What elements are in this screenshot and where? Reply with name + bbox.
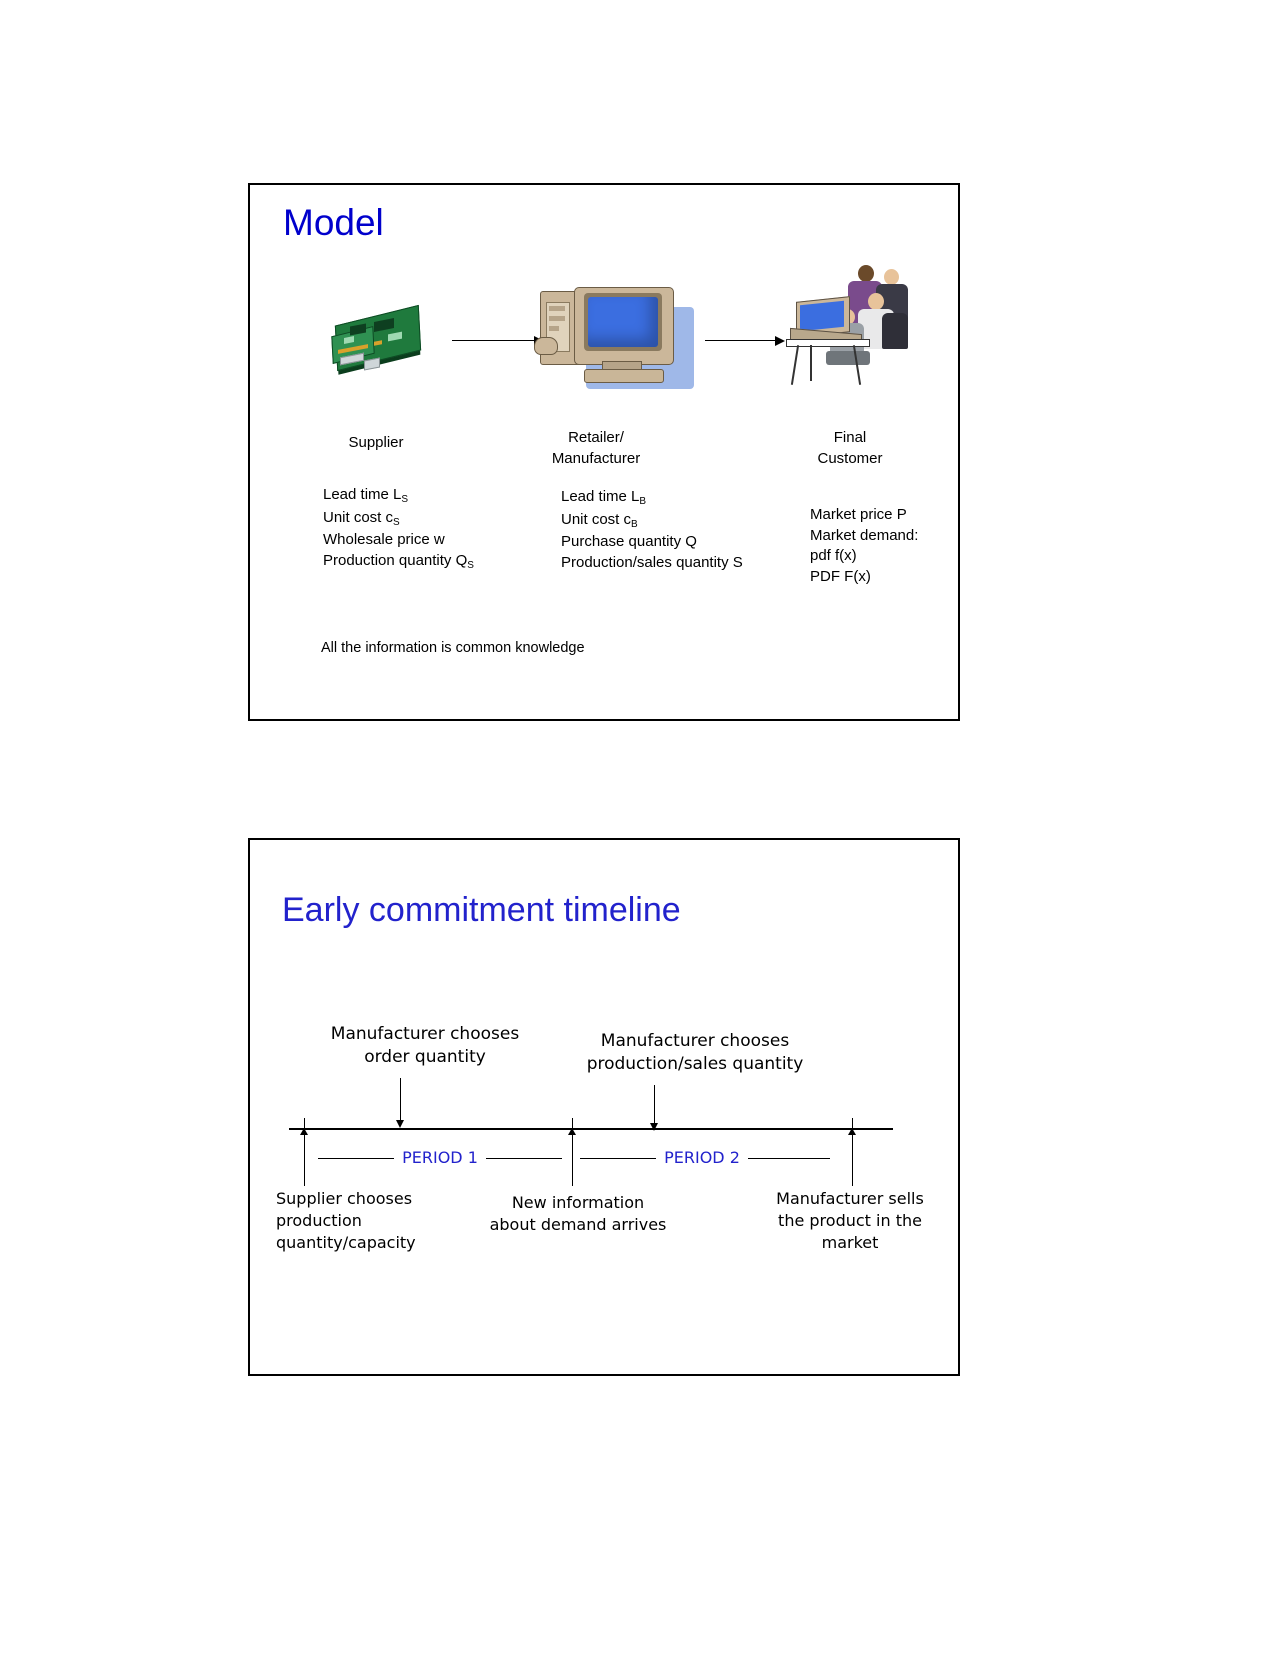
arrow-supplier-to-manufacturer: [452, 340, 536, 341]
subscript: S: [393, 517, 400, 528]
circuit-board-icon: [330, 301, 426, 379]
list-item: pdf f(x): [810, 546, 918, 567]
period-2-rule-left: [580, 1158, 656, 1159]
period-1-rule-right: [486, 1158, 562, 1159]
bottom-label-new-information: New information about demand arrives: [468, 1192, 688, 1236]
final-customer-icon: [790, 263, 930, 393]
list-item: Lead time LS: [323, 485, 474, 508]
column-body-manufacturer: Lead time LB Unit cost cB Purchase quant…: [561, 487, 743, 573]
heading-line2: Customer: [770, 448, 930, 469]
arrow-manufacturer-to-customer: [705, 340, 777, 341]
list-item: Lead time LB: [561, 487, 743, 510]
bottom-label-manufacturer-sells: Manufacturer sells the product in the ma…: [750, 1188, 950, 1254]
column-body-supplier: Lead time LS Unit cost cS Wholesale pric…: [323, 485, 474, 573]
subscript: S: [401, 494, 408, 505]
list-item: Production quantity QS: [323, 551, 474, 574]
list-item: Production/sales quantity S: [561, 553, 743, 574]
list-item: Unit cost cB: [561, 510, 743, 533]
common-knowledge-note: All the information is common knowledge: [321, 640, 585, 656]
heading-line2: Manufacturer: [506, 448, 686, 469]
heading-line1: Supplier: [296, 432, 456, 453]
column-body-customer: Market price P Market demand: pdf f(x) P…: [810, 505, 918, 587]
period-1-rule-left: [318, 1158, 394, 1159]
list-item: Unit cost cS: [323, 508, 474, 531]
down-arrow-icon-1: [396, 1120, 404, 1128]
top-label-production-sales-quantity: Manufacturer chooses production/sales qu…: [550, 1030, 840, 1076]
subscript: B: [639, 496, 646, 507]
down-arrow-line-2: [654, 1085, 655, 1125]
arrow-head-icon-2: [775, 336, 785, 346]
list-item: PDF F(x): [810, 567, 918, 588]
desktop-computer-icon: [540, 285, 695, 391]
bottom-label-supplier: Supplier chooses production quantity/cap…: [276, 1188, 416, 1254]
column-heading-customer: Final Customer: [770, 427, 930, 469]
top-label-order-quantity: Manufacturer chooses order quantity: [290, 1023, 560, 1069]
list-item: Market price P: [810, 505, 918, 526]
list-item: Market demand:: [810, 526, 918, 547]
slide-early-commitment-timeline: Early commitment timeline Manufacturer c…: [248, 838, 960, 1376]
list-item: Wholesale price w: [323, 530, 474, 551]
subscript: B: [631, 519, 638, 530]
tick-line-3: [852, 1118, 853, 1186]
list-item: Purchase quantity Q: [561, 532, 743, 553]
tick-line-1: [304, 1118, 305, 1186]
heading-line1: Retailer/: [506, 427, 686, 448]
timeline-axis: [289, 1128, 893, 1130]
slide-model: Model: [248, 183, 960, 721]
column-heading-supplier: Supplier: [296, 432, 456, 453]
period-2-label: PERIOD 2: [656, 1148, 748, 1167]
down-arrow-line-1: [400, 1078, 401, 1122]
tick-line-2: [572, 1118, 573, 1186]
page-title-2: Early commitment timeline: [282, 891, 681, 930]
column-heading-manufacturer: Retailer/ Manufacturer: [506, 427, 686, 469]
heading-line1: Final: [770, 427, 930, 448]
period-2-rule-right: [748, 1158, 830, 1159]
period-1-label: PERIOD 1: [394, 1148, 486, 1167]
subscript: S: [467, 560, 474, 571]
page-title: Model: [283, 202, 384, 244]
